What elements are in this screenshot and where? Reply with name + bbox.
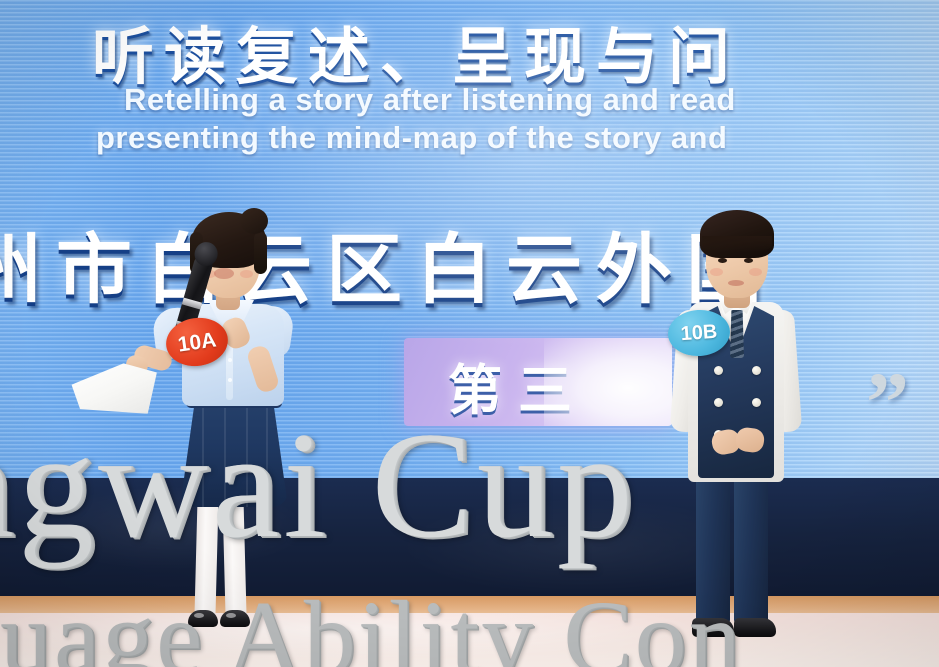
boy-hair-fringe	[702, 236, 772, 252]
badge-10a-label: 10A	[165, 327, 230, 359]
girl-mouth	[214, 268, 234, 279]
girl-hair-bun	[240, 208, 268, 234]
badge-10b-label: 10B	[667, 320, 730, 347]
contestant-boy-10b: 10B	[640, 198, 830, 638]
boy-necktie	[730, 310, 744, 358]
subtitle-english-line1: Retelling a story after listening and re…	[124, 82, 736, 118]
subtitle-english-line2: presenting the mind-map of the story and	[96, 120, 727, 156]
quotation-mark-glyph: ”	[866, 352, 909, 452]
stage-letters-sub: guage Ability Con	[0, 578, 743, 667]
stage-letters-main: ngwai Cup	[0, 398, 637, 572]
stage-photo: 听读复述、呈现与问 Retelling a story after listen…	[0, 0, 939, 667]
